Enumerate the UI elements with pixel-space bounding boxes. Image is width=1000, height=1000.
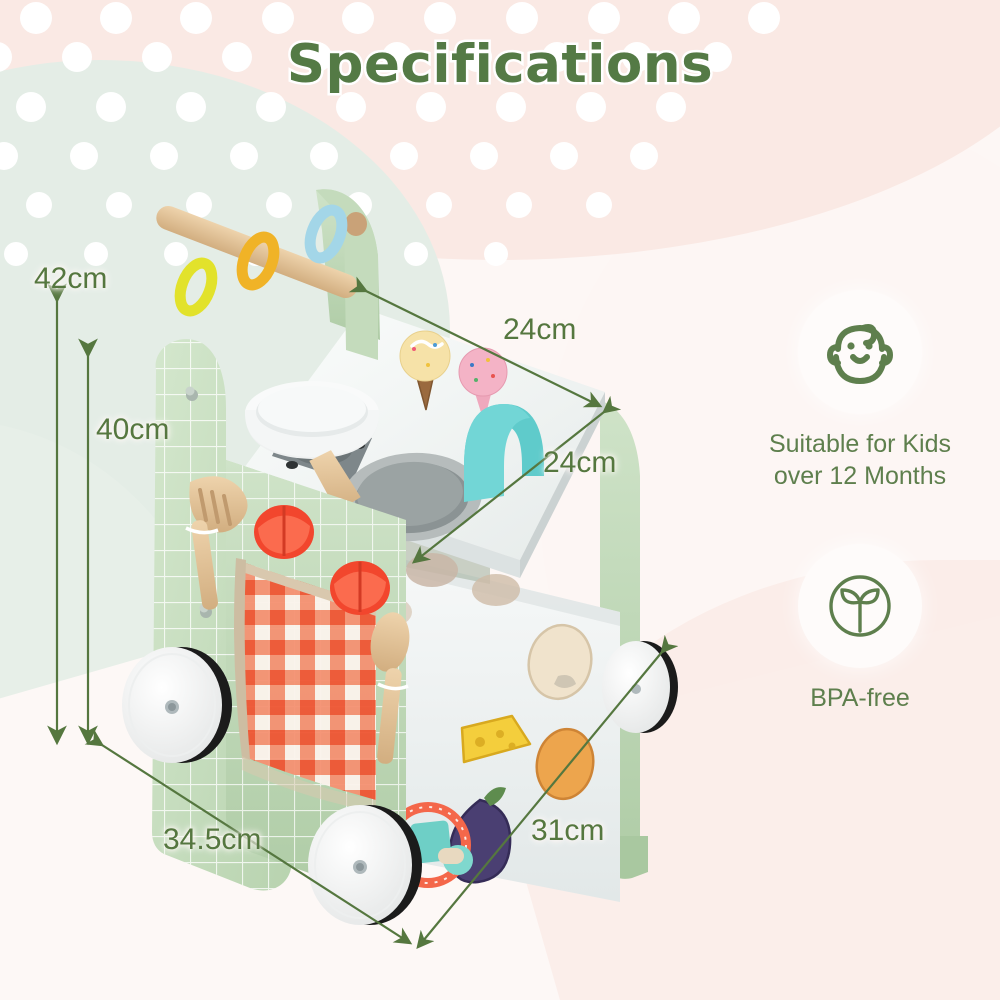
feature-list: Suitable for Kids over 12 Months BPA-fre… (720, 290, 1000, 766)
decorative-dot (20, 2, 52, 34)
wheel-front-left (122, 647, 232, 763)
decorative-dot (256, 92, 286, 122)
feature-bpa: BPA-free (720, 544, 1000, 714)
decorative-dot (424, 2, 456, 34)
decorative-dot (4, 242, 28, 266)
decorative-dot (748, 2, 780, 34)
handle-ring-yellow (174, 259, 218, 316)
specification-page: Specifications (0, 0, 1000, 1000)
knob-red-left (254, 505, 314, 559)
dimension-31cm: 31cm (531, 814, 604, 848)
decorative-dot (100, 2, 132, 34)
feature-age-label: Suitable for Kids over 12 Months (720, 428, 1000, 492)
sprout-leaf-icon (823, 569, 897, 643)
handle-assembly (153, 189, 380, 360)
page-title: Specifications (0, 34, 1000, 95)
decorative-dot (180, 2, 212, 34)
decorative-dot (576, 92, 606, 122)
decorative-dot (16, 92, 46, 122)
decorative-dot (26, 192, 52, 218)
dimension-24cm-b: 24cm (543, 446, 616, 480)
dimension-24cm-a: 24cm (503, 313, 576, 347)
dimension-34-5cm: 34.5cm (163, 823, 261, 857)
dimension-40cm: 40cm (96, 413, 169, 447)
decorative-dot (262, 2, 294, 34)
decorative-dot (0, 142, 18, 170)
decorative-dot (336, 92, 366, 122)
wheel-rear (602, 641, 678, 733)
dimension-42cm: 42cm (34, 262, 107, 296)
knob-red-right (330, 561, 390, 615)
decorative-dot (176, 92, 206, 122)
decorative-dot (496, 92, 526, 122)
baby-face-icon (821, 313, 899, 391)
decorative-dot (96, 92, 126, 122)
decorative-dot (588, 2, 620, 34)
wheel-front-right (308, 805, 422, 925)
decorative-dot (506, 2, 538, 34)
feature-bpa-icon-circle (798, 544, 922, 668)
decorative-dot (342, 2, 374, 34)
decorative-dot (416, 92, 446, 122)
feature-age-icon-circle (798, 290, 922, 414)
feature-bpa-label: BPA-free (720, 682, 1000, 714)
feature-age: Suitable for Kids over 12 Months (720, 290, 1000, 492)
decorative-dot (656, 92, 686, 122)
decorative-dot (668, 2, 700, 34)
